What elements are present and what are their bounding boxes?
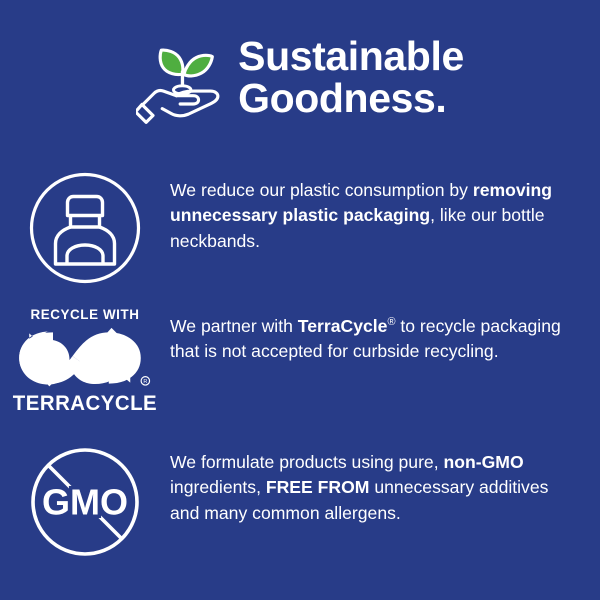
- text-seg: ingredients,: [170, 477, 266, 497]
- benefit-row-terracycle: RECYCLE WITH R: [0, 308, 600, 415]
- terracycle-logo: RECYCLE WITH R: [10, 308, 160, 415]
- text-seg-bold: FREE FROM: [266, 477, 370, 497]
- page-title-line-2: Goodness.: [238, 78, 464, 120]
- text-seg: We reduce our plastic consumption by: [170, 180, 473, 200]
- infinity-recycle-arrows-icon: R: [16, 326, 154, 390]
- terracycle-bottom-label: TERRACYCLE: [13, 393, 157, 415]
- terracycle-top-label: RECYCLE WITH: [30, 308, 139, 321]
- header: Sustainable Goodness.: [0, 24, 600, 134]
- benefit-row-non-gmo: GMO We formulate products using pure, no…: [0, 446, 600, 563]
- benefit-icon-container: GMO: [0, 446, 170, 563]
- svg-text:R: R: [143, 380, 147, 386]
- svg-text:GMO: GMO: [42, 482, 128, 523]
- sustainable-goodness-infographic: { "theme": { "background": "#283C88", "f…: [0, 0, 600, 600]
- benefit-text-terracycle: We partner with TerraCycle® to recycle p…: [170, 308, 600, 365]
- text-seg-bold: non-GMO: [444, 452, 524, 472]
- benefit-row-plastic: We reduce our plastic consumption by rem…: [0, 172, 600, 289]
- benefit-text-non-gmo: We formulate products using pure, non-GM…: [170, 446, 600, 526]
- benefit-text-plastic: We reduce our plastic consumption by rem…: [170, 172, 600, 254]
- page-title-line-1: Sustainable: [238, 36, 464, 78]
- benefit-icon-container: RECYCLE WITH R: [0, 308, 170, 415]
- benefit-icon-container: [0, 172, 170, 289]
- bottle-neckband-circle-icon: [29, 172, 141, 289]
- no-gmo-circle-icon: GMO: [29, 446, 141, 563]
- hand-holding-sprout-icon: [136, 35, 228, 127]
- text-seg: We formulate products using pure,: [170, 452, 444, 472]
- text-seg: We partner with: [170, 316, 298, 336]
- page-title: Sustainable Goodness.: [238, 36, 464, 122]
- text-seg-bold: TerraCycle: [298, 316, 388, 336]
